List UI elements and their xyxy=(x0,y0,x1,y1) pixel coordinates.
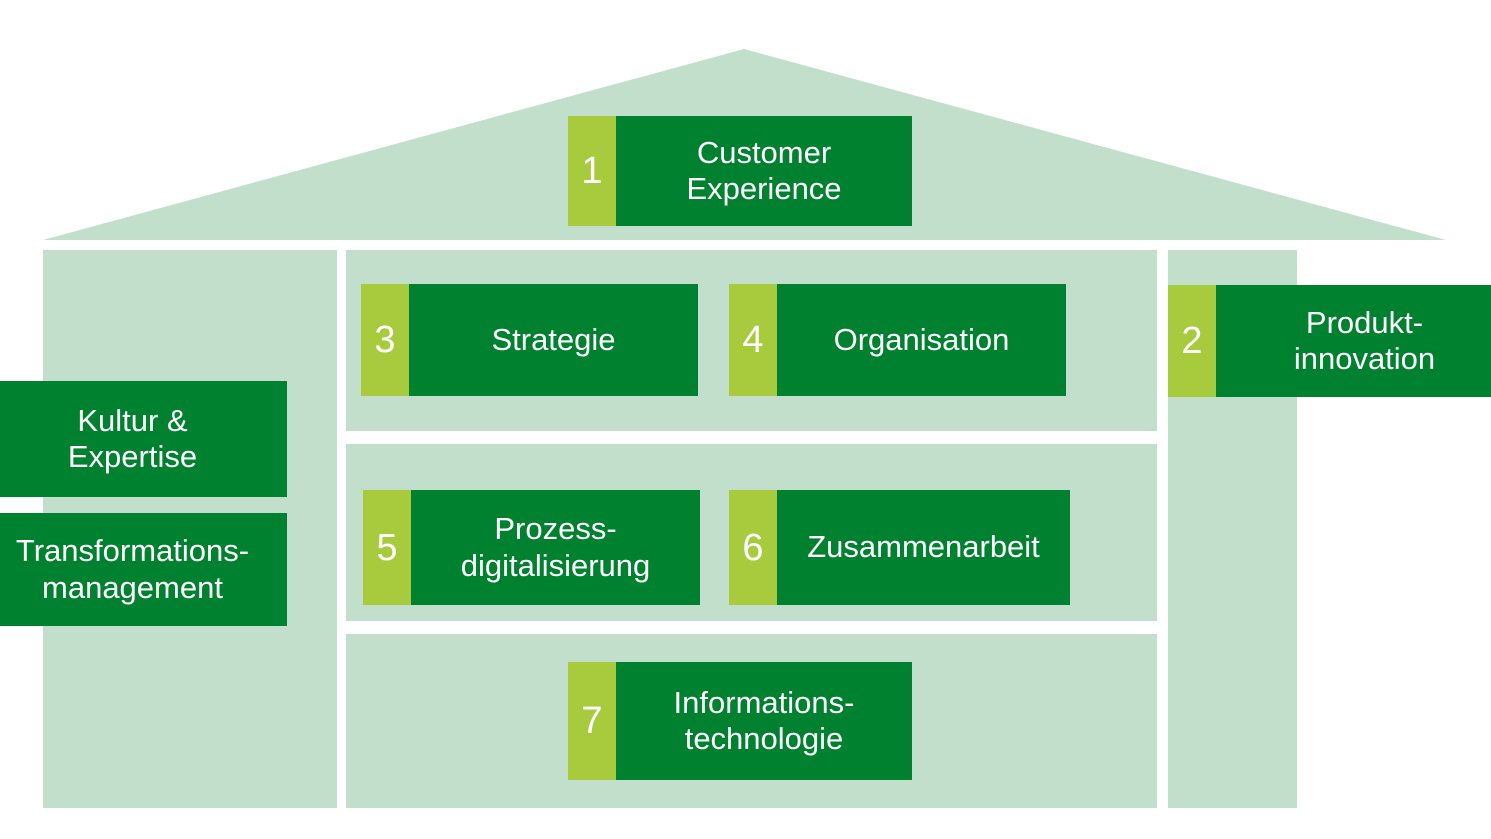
box-number: 2 xyxy=(1168,285,1216,397)
box-label: Transformations- management xyxy=(0,513,287,626)
box-label: Prozess- digitalisierung xyxy=(411,490,700,605)
box-label: Organisation xyxy=(777,284,1066,396)
box-informationstechnologie[interactable]: 7 Informations- technologie xyxy=(568,662,912,780)
box-label: Produkt- innovation xyxy=(1216,285,1491,397)
box-label: Zusammenarbeit xyxy=(777,490,1070,605)
box-label: Kultur & Expertise xyxy=(0,381,287,497)
box-label: Informations- technologie xyxy=(616,662,912,780)
box-prozess-digitalisierung[interactable]: 5 Prozess- digitalisierung xyxy=(363,490,700,605)
box-strategie[interactable]: 3 Strategie xyxy=(361,284,698,396)
house-diagram: 1 Customer Experience 2 Produkt- innovat… xyxy=(0,0,1491,839)
box-customer-experience[interactable]: 1 Customer Experience xyxy=(568,116,912,226)
box-number: 1 xyxy=(568,116,616,226)
box-zusammenarbeit[interactable]: 6 Zusammenarbeit xyxy=(729,490,1070,605)
box-number: 6 xyxy=(729,490,777,605)
box-number: 7 xyxy=(568,662,616,780)
box-number: 4 xyxy=(729,284,777,396)
box-transformationsmanagement[interactable]: Transformations- management xyxy=(0,513,287,626)
box-kultur-expertise[interactable]: Kultur & Expertise xyxy=(0,381,287,497)
box-label: Customer Experience xyxy=(616,116,912,226)
box-produkt-innovation[interactable]: 2 Produkt- innovation xyxy=(1168,285,1491,397)
box-label: Strategie xyxy=(409,284,698,396)
box-number: 5 xyxy=(363,490,411,605)
box-number: 3 xyxy=(361,284,409,396)
box-organisation[interactable]: 4 Organisation xyxy=(729,284,1066,396)
